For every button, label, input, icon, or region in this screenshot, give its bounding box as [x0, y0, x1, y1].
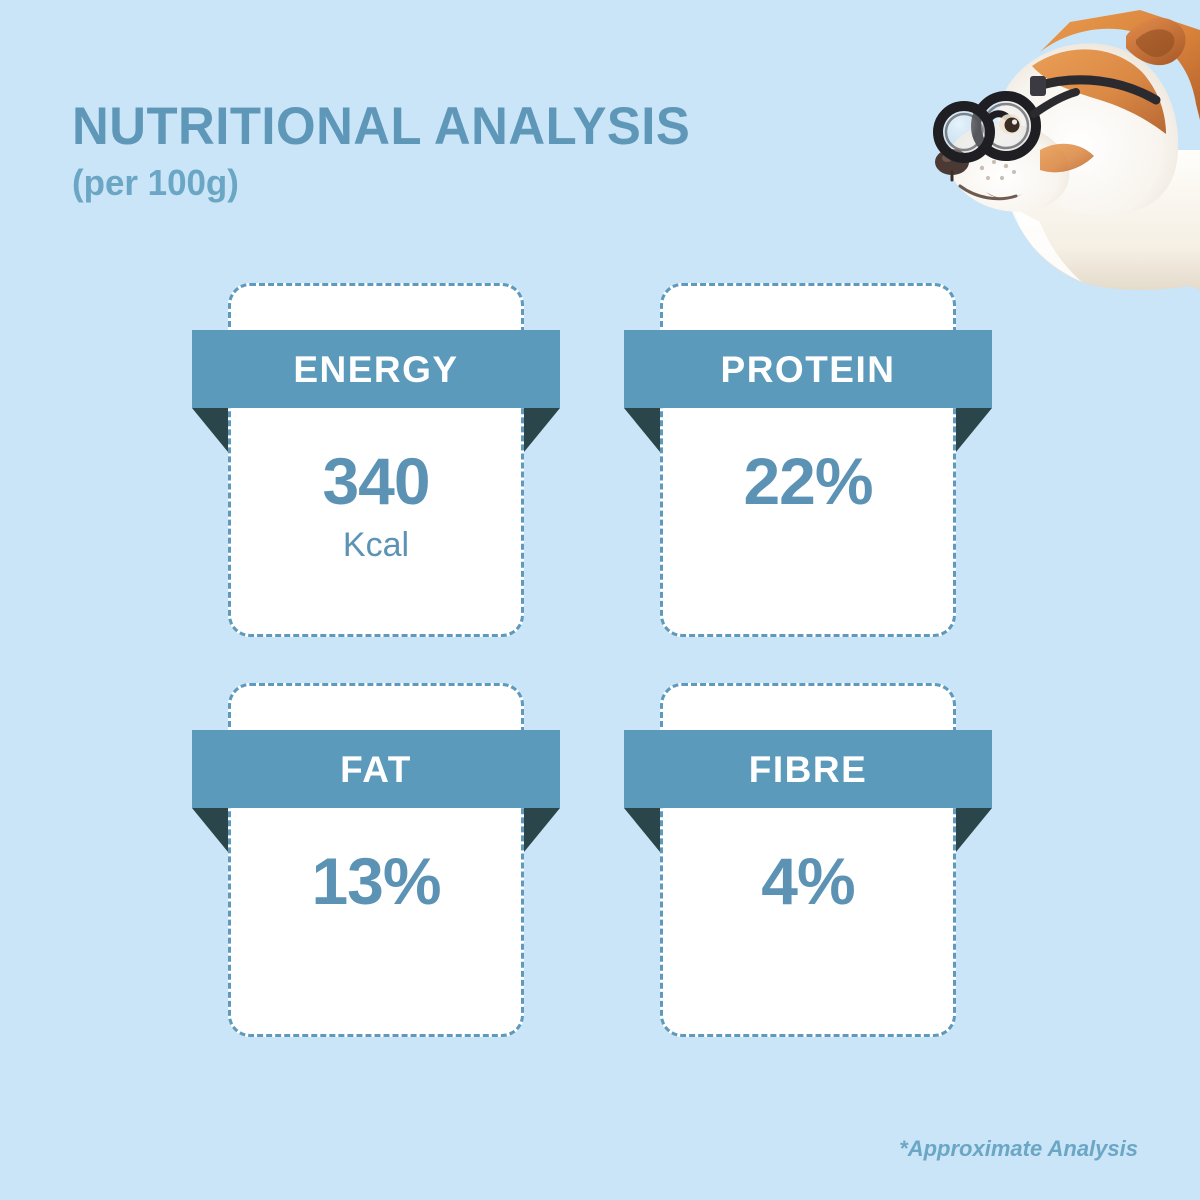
card-ribbon: FIBRE — [624, 730, 992, 808]
card-value: 13% — [311, 848, 440, 914]
ribbon-bar: FAT — [192, 730, 560, 808]
card-label: PROTEIN — [721, 351, 896, 388]
card-unit: Kcal — [343, 528, 409, 562]
ribbon-fold-right — [524, 808, 560, 852]
card-content: 4% — [660, 808, 956, 948]
ribbon-bar: ENERGY — [192, 330, 560, 408]
ribbon-fold-right — [956, 408, 992, 452]
metric-card-energy: ENERGY 340 Kcal — [192, 283, 560, 643]
card-label: ENERGY — [293, 351, 458, 388]
card-ribbon: FAT — [192, 730, 560, 808]
ribbon-fold-left — [624, 808, 660, 852]
ribbon-fold-right — [524, 408, 560, 452]
card-content: 13% — [228, 808, 524, 948]
card-label: FIBRE — [749, 751, 868, 788]
card-ribbon: ENERGY — [192, 330, 560, 408]
metric-card-grid: ENERGY 340 Kcal PROTEIN 22% — [0, 0, 1200, 1200]
card-value: 4% — [761, 848, 854, 914]
card-content: 22% — [660, 408, 956, 548]
card-content: 340 Kcal — [228, 408, 524, 548]
card-label: FAT — [340, 751, 412, 788]
ribbon-fold-left — [624, 408, 660, 452]
ribbon-bar: PROTEIN — [624, 330, 992, 408]
ribbon-bar: FIBRE — [624, 730, 992, 808]
card-ribbon: PROTEIN — [624, 330, 992, 408]
metric-card-fibre: FIBRE 4% — [624, 683, 992, 1043]
card-value: 22% — [743, 448, 872, 514]
ribbon-fold-left — [192, 408, 228, 452]
footnote: *Approximate Analysis — [899, 1136, 1138, 1162]
metric-card-protein: PROTEIN 22% — [624, 283, 992, 643]
ribbon-fold-left — [192, 808, 228, 852]
metric-card-fat: FAT 13% — [192, 683, 560, 1043]
ribbon-fold-right — [956, 808, 992, 852]
nutritional-analysis-infographic: NUTRITIONAL ANALYSIS (per 100g) — [0, 0, 1200, 1200]
card-value: 340 — [322, 448, 429, 514]
